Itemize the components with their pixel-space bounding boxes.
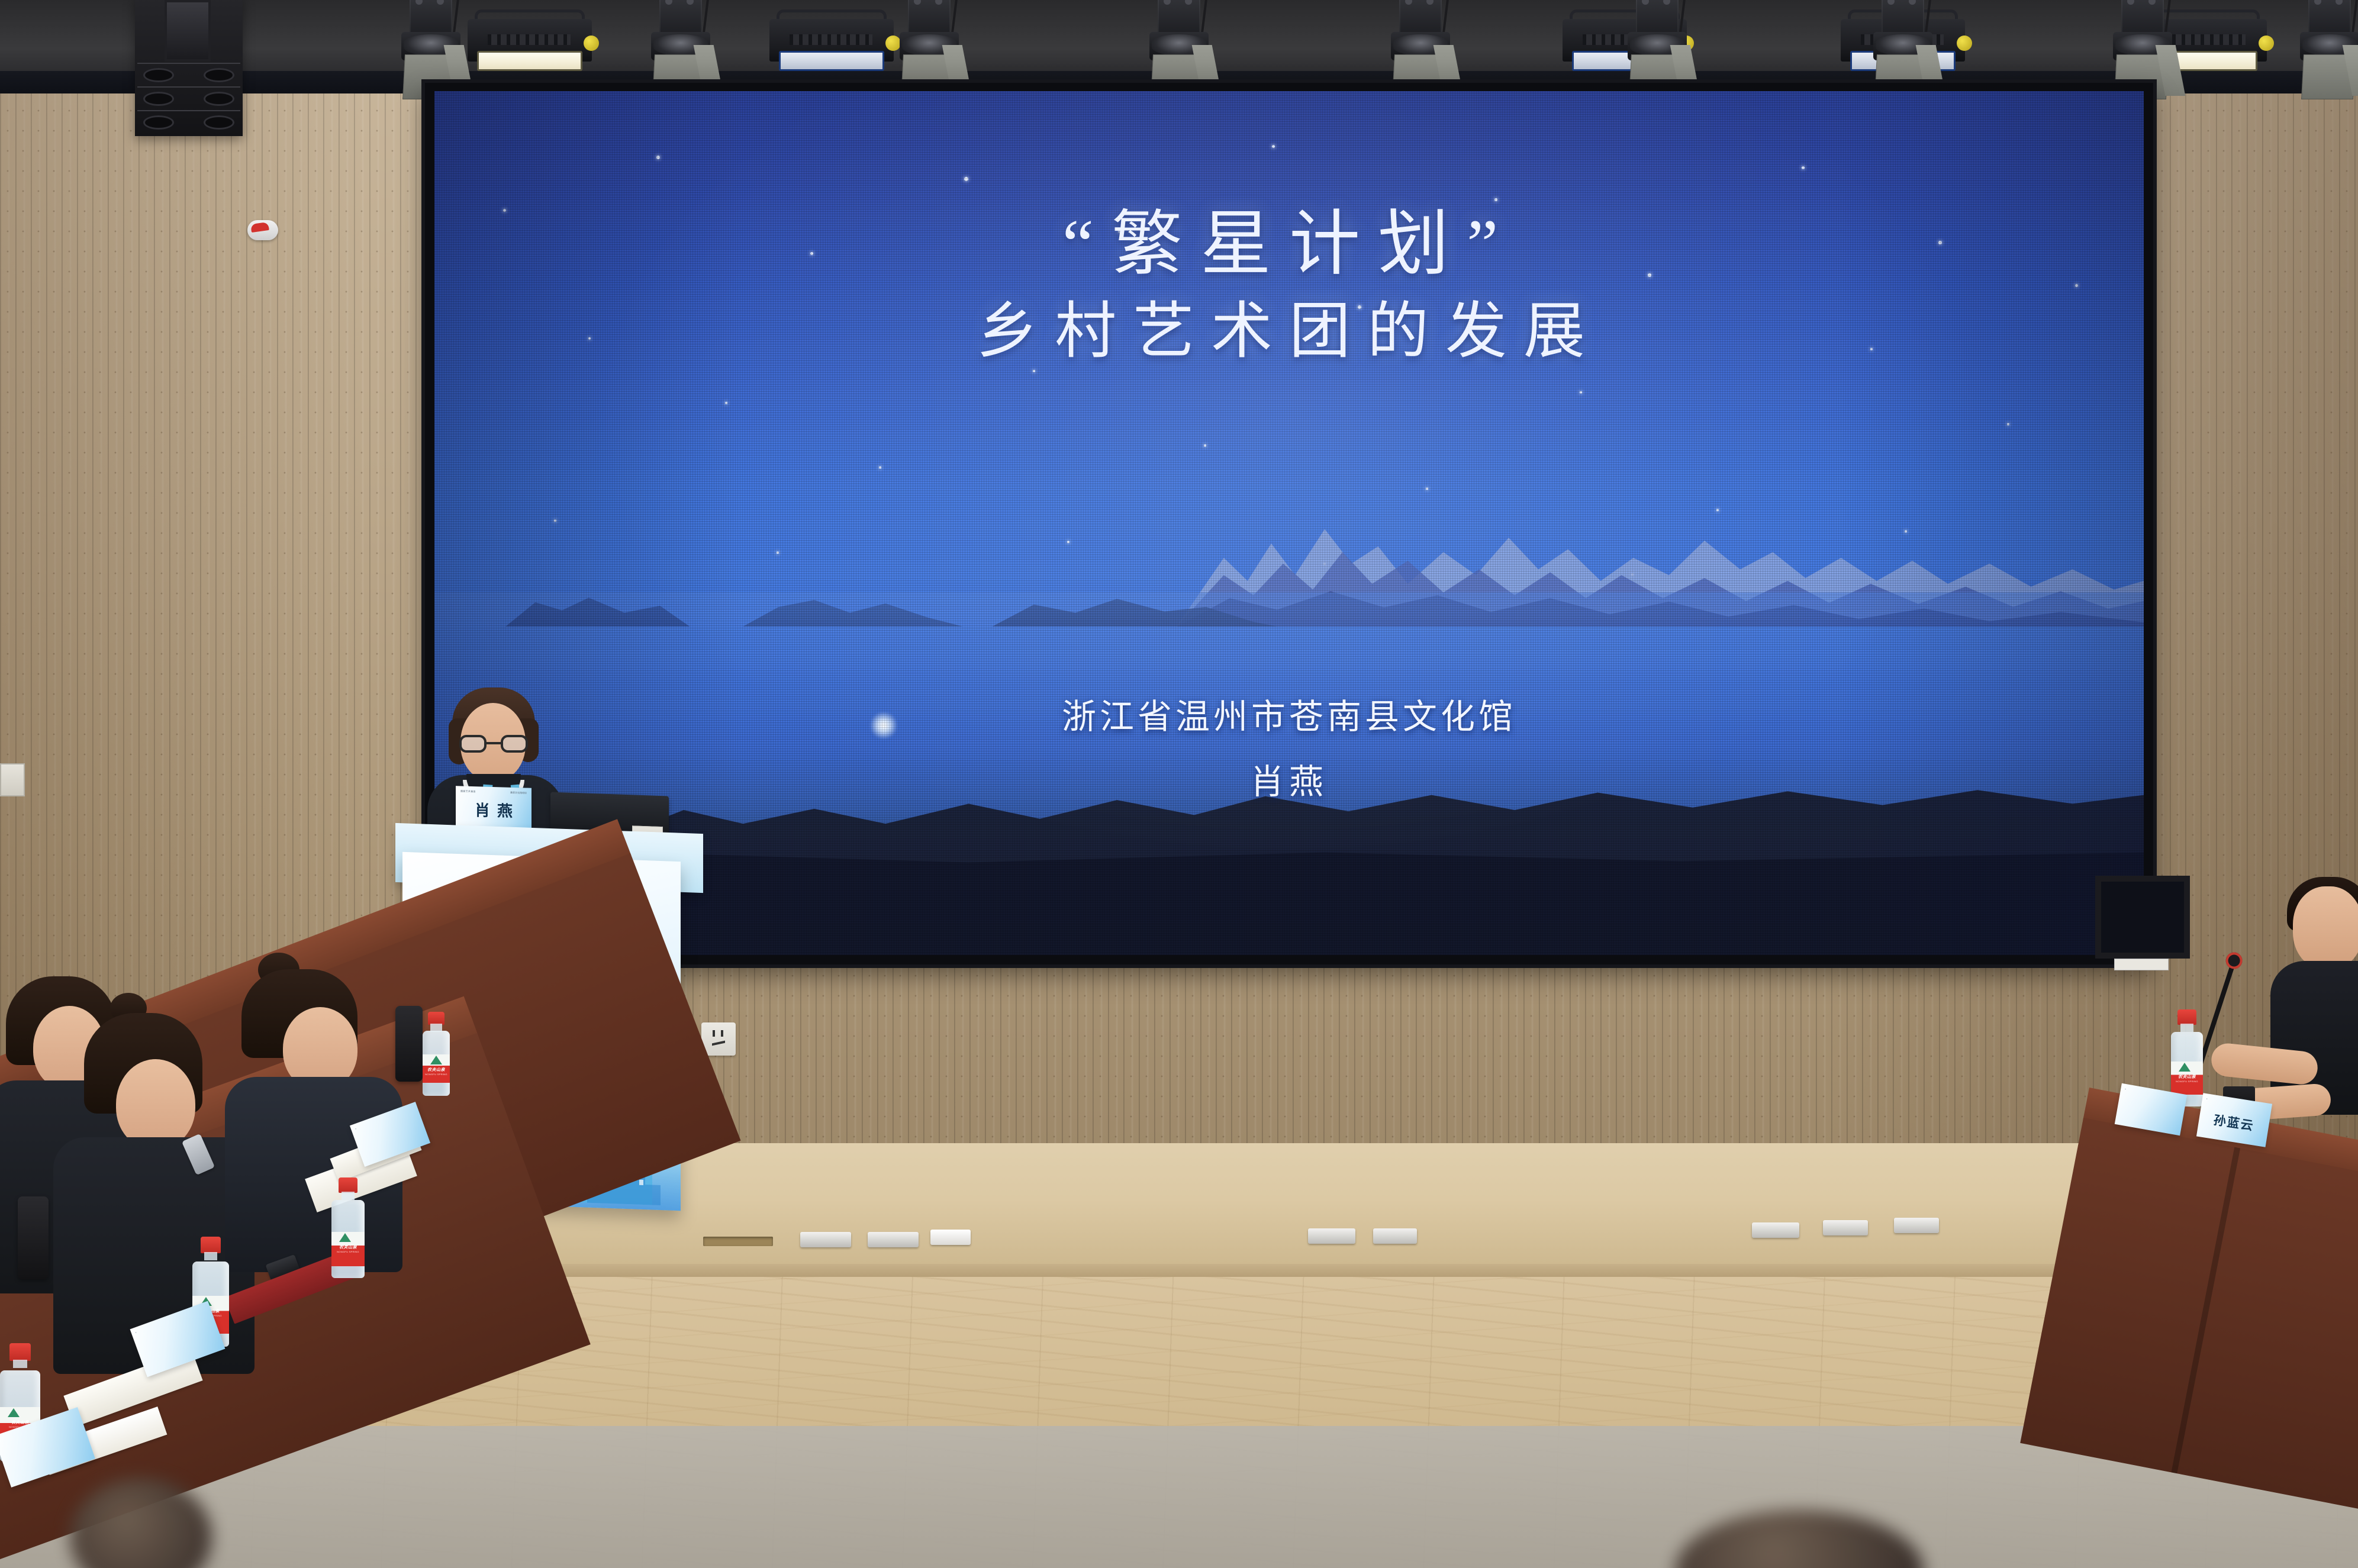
led-screen-content: “繁星计划” 乡村艺术团的发展 浙江省温州市苍南县文化馆 肖燕 xyxy=(434,91,2144,955)
right-table-name-card-text: 孙蓝云 xyxy=(2198,1108,2270,1137)
water-bottle: 农夫山泉NONGFU SPRING xyxy=(331,1177,365,1278)
lectern-name-card-text: 肖燕 xyxy=(456,798,531,822)
name-card-top-left-text: 国家艺术基金 xyxy=(460,789,476,793)
stage-floor-box xyxy=(868,1232,919,1247)
bottle-brand-en: NONGFU SPRING xyxy=(333,1250,363,1254)
black-thermos xyxy=(18,1196,49,1279)
emergency-alarm-button[interactable] xyxy=(247,220,278,240)
water-bottle: 农夫山泉NONGFU SPRING xyxy=(423,1012,450,1096)
stage-floor-box xyxy=(930,1230,971,1245)
slide-subtitle: 乡村艺术团的发展 xyxy=(434,280,2144,370)
wall-access-panel xyxy=(0,763,25,796)
bottle-brand-cn: 农夫山泉 xyxy=(424,1067,448,1072)
line-array-speaker xyxy=(135,0,243,136)
name-card-top-right-text: 基层文化馆培训 xyxy=(510,791,527,795)
stage-floor-box xyxy=(1308,1228,1355,1244)
water-bottle: 农夫山泉NONGFU SPRING xyxy=(2171,1009,2203,1106)
attendee-right xyxy=(2266,886,2358,1194)
flood-light-fixture xyxy=(468,8,592,79)
stage-floor-box xyxy=(1373,1228,1417,1244)
presenter-glasses xyxy=(459,735,528,753)
flood-light-fixture xyxy=(769,8,894,79)
stage-floor-box xyxy=(1894,1218,1939,1233)
conference-hall-scene: “繁星计划” 乡村艺术团的发展 浙江省温州市苍南县文化馆 肖燕 国家艺术基金 基 xyxy=(0,0,2358,1568)
slide-organization: 浙江省温州市苍南县文化馆 xyxy=(434,689,2144,738)
lectern-name-card: 国家艺术基金 基层文化馆培训 肖燕 xyxy=(456,786,531,828)
slide-title: “繁星计划” xyxy=(434,186,2144,289)
stage-floor-box xyxy=(1752,1222,1799,1238)
black-thermos xyxy=(395,1006,423,1082)
bottle-brand-cn: 农夫山泉 xyxy=(333,1244,363,1250)
stage-floor-box xyxy=(1823,1220,1868,1235)
moving-head-spotlight xyxy=(2282,0,2358,99)
stage-floor-box xyxy=(800,1232,851,1247)
bottle-brand-en: NONGFU SPRING xyxy=(424,1073,448,1077)
wall-mounted-monitor xyxy=(2095,876,2190,959)
slide-presenter-name: 肖燕 xyxy=(434,754,2144,804)
led-video-wall: “繁星计划” 乡村艺术团的发展 浙江省温州市苍南县文化馆 肖燕 xyxy=(425,83,2153,964)
bottle-brand-cn: 农夫山泉 xyxy=(2173,1074,2201,1079)
bottle-brand-en: NONGFU SPRING xyxy=(2173,1080,2201,1084)
wall-power-outlet[interactable] xyxy=(701,1022,736,1056)
